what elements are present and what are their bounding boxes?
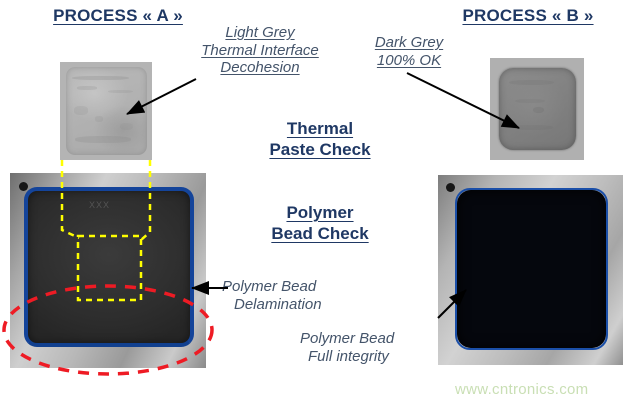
chip-b-polymer-bead bbox=[455, 188, 609, 350]
polymer-bead-check-label: Polymer Bead Check bbox=[258, 202, 382, 245]
delamination-annotation-line1: Polymer Bead bbox=[222, 278, 316, 295]
light-grey-annotation-line3: Decohesion bbox=[220, 59, 299, 76]
dark-grey-annotation-line2: 100% OK bbox=[377, 52, 441, 69]
thermal-paste-check-line2: Paste Check bbox=[269, 140, 370, 159]
full-integrity-annotation: Polymer Bead Full integrity bbox=[300, 330, 440, 365]
chip-b-pin1-marker bbox=[446, 183, 455, 192]
slide-canvas: PROCESS « A » PROCESS « B » Light Grey T… bbox=[0, 0, 638, 409]
thermal-paste-sample-process-b bbox=[490, 58, 584, 160]
chip-a-pin1-marker bbox=[19, 182, 28, 191]
full-integrity-annotation-line2: Full integrity bbox=[308, 348, 389, 365]
process-a-heading: PROCESS « A » bbox=[32, 6, 204, 26]
polymer-bead-check-line2: Bead Check bbox=[271, 224, 368, 243]
polymer-bead-check-line1: Polymer bbox=[286, 203, 353, 222]
process-b-heading-text: PROCESS « B » bbox=[462, 6, 593, 25]
light-grey-annotation-line1: Light Grey bbox=[225, 24, 294, 41]
delamination-annotation: Polymer Bead Delamination bbox=[222, 278, 366, 313]
process-a-heading-text: PROCESS « A » bbox=[53, 6, 183, 25]
site-watermark: www.cntronics.com bbox=[455, 381, 588, 398]
delamination-annotation-line2: Delamination bbox=[234, 296, 322, 313]
chip-xray-process-a: XXX bbox=[10, 173, 206, 368]
paste-sample-a-die bbox=[66, 67, 148, 155]
dark-grey-annotation-line1: Dark Grey bbox=[375, 34, 443, 51]
thermal-paste-sample-process-a bbox=[60, 62, 152, 160]
thermal-paste-check-line1: Thermal bbox=[287, 119, 353, 138]
light-grey-annotation-line2: Thermal Interface bbox=[201, 42, 319, 59]
process-b-heading: PROCESS « B » bbox=[442, 6, 614, 26]
thermal-paste-check-label: Thermal Paste Check bbox=[258, 118, 382, 161]
chip-xray-process-b bbox=[438, 175, 623, 365]
dark-grey-annotation: Dark Grey 100% OK bbox=[350, 34, 468, 69]
paste-sample-b-die bbox=[499, 68, 575, 150]
chip-a-polymer-bead bbox=[24, 187, 195, 347]
light-grey-annotation: Light Grey Thermal Interface Decohesion bbox=[178, 24, 342, 77]
full-integrity-annotation-line1: Polymer Bead bbox=[300, 330, 394, 347]
